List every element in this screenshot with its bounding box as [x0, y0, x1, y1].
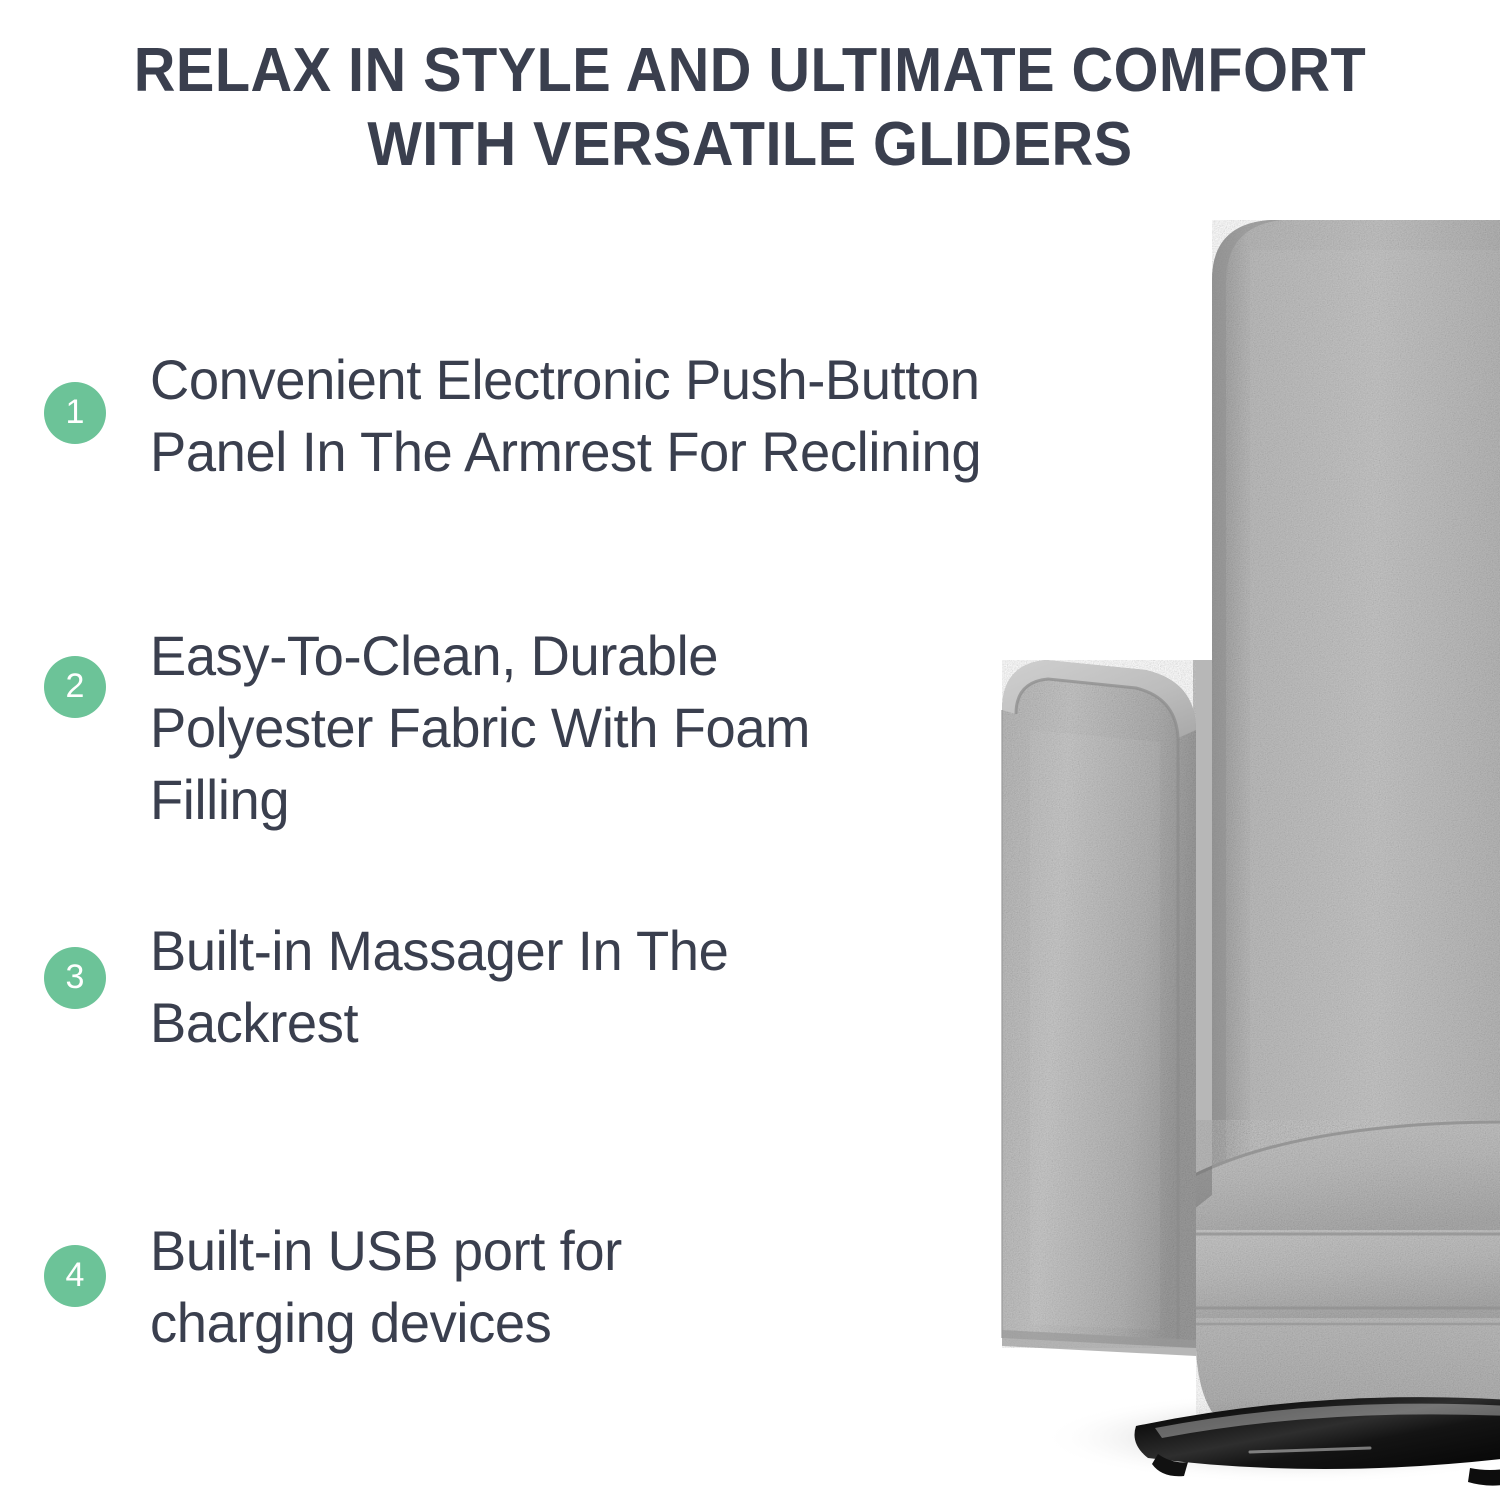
feature-item-3: 3 Built-in Massager In The Backrest	[44, 915, 874, 1059]
feature-text-4: Built-in USB port for charging devices	[150, 1215, 746, 1359]
feature-number-badge-3: 3	[44, 947, 106, 1009]
feature-text-2: Easy-To-Clean, Durable Polyester Fabric …	[150, 620, 920, 836]
page-title: RELAX IN STYLE AND ULTIMATE COMFORT WITH…	[108, 34, 1391, 182]
feature-item-2: 2 Easy-To-Clean, Durable Polyester Fabri…	[44, 620, 944, 836]
chair-backrest	[1212, 220, 1500, 1220]
feature-number-badge-4: 4	[44, 1245, 106, 1307]
feature-text-3: Built-in Massager In The Backrest	[150, 915, 852, 1059]
feature-text-1: Convenient Electronic Push-Button Panel …	[150, 344, 1027, 488]
chair-seat-cushion	[1196, 1230, 1500, 1320]
infographic-page: RELAX IN STYLE AND ULTIMATE COMFORT WITH…	[0, 0, 1500, 1500]
feature-number-badge-2: 2	[44, 656, 106, 718]
product-image-glider-chair	[950, 190, 1500, 1500]
feature-item-4: 4 Built-in USB port for charging devices	[44, 1215, 764, 1359]
feature-item-1: 1 Convenient Electronic Push-Button Pane…	[44, 344, 1054, 488]
feature-number-badge-1: 1	[44, 382, 106, 444]
chair-armrest	[1002, 660, 1196, 1348]
